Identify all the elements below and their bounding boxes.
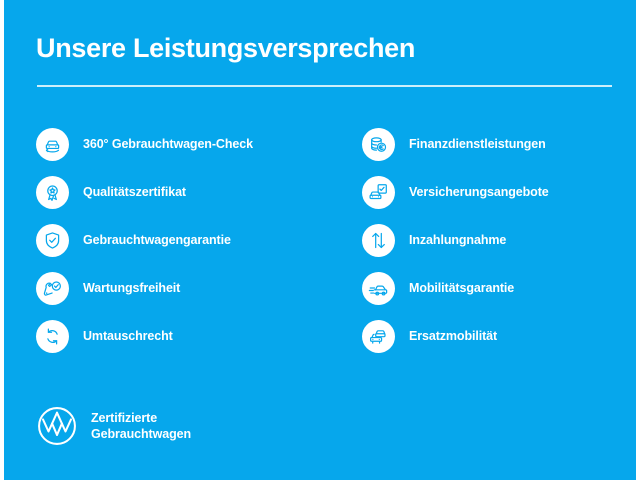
- car-360-check-icon: [36, 128, 69, 161]
- list-item[interactable]: Umtauschrecht: [36, 312, 336, 360]
- list-item-label: Mobilitätsgarantie: [409, 281, 514, 295]
- list-item[interactable]: Finanzdienstleistungen: [362, 120, 640, 168]
- promises-left-column: 360° Gebrauchtwagen-Check Qualitätszerti…: [36, 120, 336, 360]
- list-item[interactable]: Gebrauchtwagengarantie: [36, 216, 336, 264]
- wrench-check-icon: [36, 272, 69, 305]
- footer-line-2: Gebrauchtwagen: [91, 426, 191, 442]
- shield-check-icon: [36, 224, 69, 257]
- title-divider: [37, 85, 612, 87]
- list-item-label: Finanzdienstleistungen: [409, 137, 546, 151]
- list-item-label: Wartungsfreiheit: [83, 281, 180, 295]
- list-item-label: Ersatzmobilität: [409, 329, 497, 343]
- exchange-arrows-icon: [36, 320, 69, 353]
- list-item[interactable]: Mobilitätsgarantie: [362, 264, 640, 312]
- list-item-label: Inzahlungnahme: [409, 233, 506, 247]
- car-motion-icon: [362, 272, 395, 305]
- list-item-label: Gebrauchtwagengarantie: [83, 233, 231, 247]
- promises-right-column: Finanzdienstleistungen Versicherungsange…: [362, 120, 640, 360]
- car-document-check-icon: [362, 176, 395, 209]
- coins-euro-icon: [362, 128, 395, 161]
- list-item-label: Versicherungsangebote: [409, 185, 549, 199]
- list-item-label: Umtauschrecht: [83, 329, 173, 343]
- list-item-label: Qualitätszertifikat: [83, 185, 186, 199]
- list-item[interactable]: Wartungsfreiheit: [36, 264, 336, 312]
- award-rosette-icon: [36, 176, 69, 209]
- footer-line-1: Zertifizierte: [91, 410, 191, 426]
- two-cars-icon: [362, 320, 395, 353]
- list-item[interactable]: Qualitätszertifikat: [36, 168, 336, 216]
- list-item-label: 360° Gebrauchtwagen-Check: [83, 137, 253, 151]
- up-down-arrows-icon: [362, 224, 395, 257]
- list-item[interactable]: Versicherungsangebote: [362, 168, 640, 216]
- footer-brand: Zertifizierte Gebrauchtwagen: [36, 405, 191, 447]
- footer-text: Zertifizierte Gebrauchtwagen: [91, 410, 191, 442]
- page-title: Unsere Leistungsversprechen: [36, 33, 415, 64]
- list-item[interactable]: 360° Gebrauchtwagen-Check: [36, 120, 336, 168]
- volkswagen-logo: [36, 405, 78, 447]
- list-item[interactable]: Inzahlungnahme: [362, 216, 640, 264]
- list-item[interactable]: Ersatzmobilität: [362, 312, 640, 360]
- promises-poster: Unsere Leistungsversprechen 360° Gebrauc…: [0, 0, 640, 480]
